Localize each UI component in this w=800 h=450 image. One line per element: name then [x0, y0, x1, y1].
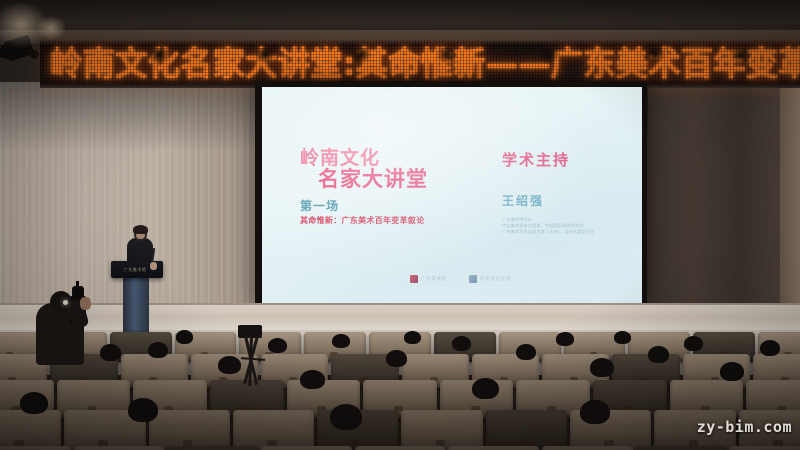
ceiling-spotlight-icon — [30, 50, 39, 59]
auditorium-seat — [636, 446, 727, 450]
audience-member-head — [148, 342, 168, 358]
audience-member-head — [556, 332, 574, 346]
screenshot-root: 岭南文化名家大讲堂:其命惟新——广东美术百年变革叙论 岭南文化 名家大讲堂 第一… — [0, 0, 800, 450]
auditorium-seat — [448, 446, 539, 450]
projection-screen: 岭南文化 名家大讲堂 第一场 其命惟新：广东美术百年变革叙论 学术主持 王绍强 … — [262, 87, 642, 307]
audience-member-head — [760, 340, 780, 356]
auditorium-seat — [0, 410, 61, 450]
podium-nameplate-text: 广东美术馆 — [124, 267, 147, 273]
audience-member-head — [300, 370, 325, 389]
ceiling-light-glow — [36, 16, 66, 40]
auditorium-seat — [149, 410, 230, 450]
audience-member-head — [452, 336, 471, 351]
audience-member-head — [330, 404, 362, 430]
audience-member-head — [404, 331, 421, 344]
podium-nameplate: 广东美术馆 — [118, 266, 152, 273]
slide-subtitle: 其命惟新：广东美术百年变革叙论 — [300, 215, 425, 226]
seat-row — [0, 446, 800, 450]
auditorium-seat — [542, 446, 633, 450]
slide-logo: 岭南文化名家 — [469, 275, 511, 283]
speaker-hand — [150, 262, 157, 270]
audience-member-head — [720, 362, 744, 381]
watermark: zy-bim.com — [697, 418, 792, 436]
audience-member-head — [472, 378, 499, 399]
slide-host-label: 学术主持 — [502, 149, 570, 170]
auditorium-seat — [261, 446, 352, 450]
auditorium-seat — [74, 446, 165, 450]
audience-member-head — [100, 344, 121, 361]
auditorium-seat — [401, 410, 482, 450]
audience-member-head — [684, 336, 703, 351]
slide-logo: 广东美术馆 — [410, 275, 447, 283]
auditorium-seat — [355, 446, 446, 450]
audience-member-head — [386, 350, 407, 367]
auditorium-seat — [0, 446, 71, 450]
audience-member-head — [614, 331, 631, 344]
video-camera-handle — [76, 281, 79, 293]
led-banner-text: 岭南文化名家大讲堂:其命惟新——广东美术百年变革叙论 — [50, 43, 799, 85]
audience-member-head — [218, 356, 241, 374]
videographer-hand — [80, 297, 91, 310]
slide-session-label: 第一场 — [300, 197, 339, 214]
slide-logo-strip: 广东美术馆 岭南文化名家 — [410, 275, 511, 283]
audience-member-head — [20, 392, 48, 414]
speaker-hair — [133, 225, 148, 234]
audience-member-head — [580, 400, 610, 424]
audience-member-head — [648, 346, 669, 363]
gdmuseum-logo-icon — [410, 275, 418, 283]
video-camera-light — [63, 300, 68, 305]
audience-member-head — [128, 398, 158, 422]
podium-column — [123, 272, 149, 336]
slide-logo-text: 岭南文化名家 — [480, 276, 511, 282]
audience-member-head — [268, 338, 287, 353]
auditorium-seat — [233, 410, 314, 450]
slide-title-line2: 名家大讲堂 — [318, 163, 428, 193]
slide-logo-text: 广东美术馆 — [421, 276, 447, 282]
auditorium-seat — [486, 410, 567, 450]
seat-row — [0, 410, 800, 450]
partner-logo-icon — [469, 275, 477, 283]
led-banner: 岭南文化名家大讲堂:其命惟新——广东美术百年变革叙论 — [40, 40, 800, 88]
auditorium-seat — [729, 446, 800, 450]
slide-host-credentials: 广东美术馆馆长 中国美术家协会理事、中国国家画院研究员 广东美术家协会副主席（主… — [502, 217, 622, 236]
host-credential-line: 广东美术家协会副主席（主持）、设计艺委会主任 — [502, 229, 622, 235]
slide-host-name: 王绍强 — [502, 192, 544, 209]
auditorium-seat — [167, 446, 258, 450]
audience-member-head — [516, 344, 536, 360]
audience-member-head — [176, 330, 193, 344]
audience-member-head — [332, 334, 350, 348]
audience-member-head — [590, 358, 614, 377]
